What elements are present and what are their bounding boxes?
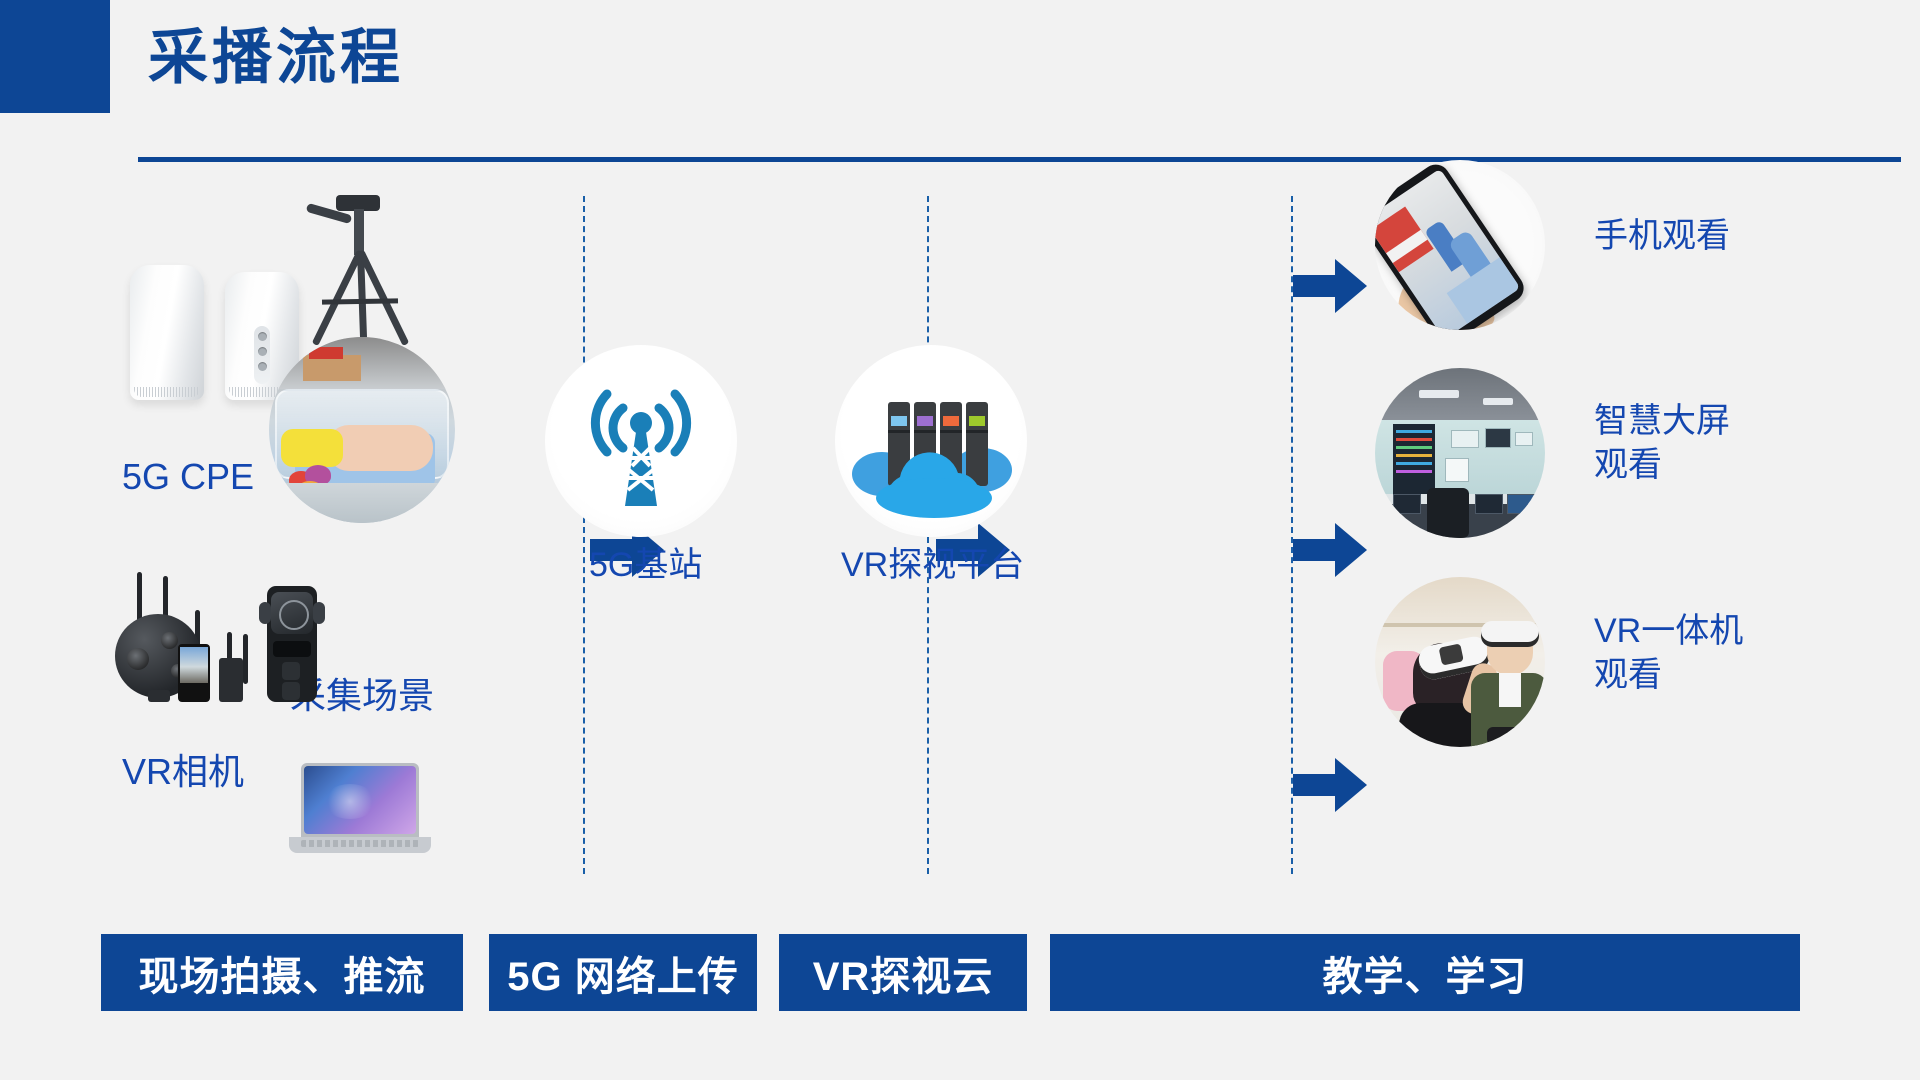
stage-bar-label: 现场拍摄、推流 [139,944,426,1002]
vr-controller [1487,727,1523,745]
tripod-column [354,209,364,255]
laptop-screen [304,766,416,834]
flow-arrow-to-phone [1293,259,1367,313]
incubator-hood [269,337,455,389]
cpe-port-panel [254,326,270,384]
5g-base-station-icon-circle [545,345,737,537]
handheld-terminal [178,644,210,702]
capture-scene-photo [269,337,455,523]
label-vr-platform: VR探视平台 [841,545,1024,586]
vr-camera-image [115,572,345,702]
scene-red-sign [309,347,343,359]
vr-panoramic-camera [267,586,317,702]
stage-bar-teaching: 教学、学习 [1050,934,1800,1011]
laptop-image [289,763,431,861]
label-bigscreen-viewing: 智慧大屏 观看 [1594,400,1730,487]
cloud-server-icon [846,370,1016,520]
stage-separator-1 [583,196,585,874]
laptop-keyboard [289,837,431,853]
laptop-lid [301,763,419,837]
stage-bar-label: VR探视云 [813,944,994,1002]
title-divider [138,157,1901,162]
vr-headset-man [1481,621,1539,647]
cpe-grille [134,387,200,397]
label-vr-camera: VR相机 [122,750,244,794]
tripod-image [300,195,420,355]
control-room-photo [1375,368,1545,538]
cell-tower-icon [566,366,716,516]
stage-bar-5g-upload: 5G 网络上传 [489,934,757,1011]
tripod-leg [312,249,364,346]
flow-arrow-to-vr-headset [1293,758,1367,812]
yellow-sticker [281,429,343,467]
vr-platform-icon-circle [835,345,1027,537]
stage-bar-vr-cloud: VR探视云 [779,934,1027,1011]
stage-bar-label: 5G 网络上传 [507,944,738,1002]
page-title: 采播流程 [148,22,404,94]
header-accent-block [0,0,110,113]
label-5g-base-station: 5G基站 [589,545,702,586]
vr-headset-photo [1375,577,1545,747]
camera-stand [148,690,170,702]
flow-arrow-to-bigscreen [1293,523,1367,577]
server-rack [1393,424,1435,494]
incubator-base [269,483,455,523]
transmitter-module [219,658,243,702]
stage-bar-label: 教学、学习 [1323,944,1528,1002]
label-5g-cpe: 5G CPE [122,455,254,499]
cpe-unit-left [130,265,204,400]
label-phone-viewing: 手机观看 [1594,215,1730,259]
phone-viewing-photo [1375,160,1545,330]
slide-root: 采播流程 5G CPE 采集场景 [0,0,1920,1080]
stage-bar-capture: 现场拍摄、推流 [101,934,463,1011]
label-vr-headset-viewing: VR一体机 观看 [1594,610,1743,697]
office-chair [1427,488,1469,538]
